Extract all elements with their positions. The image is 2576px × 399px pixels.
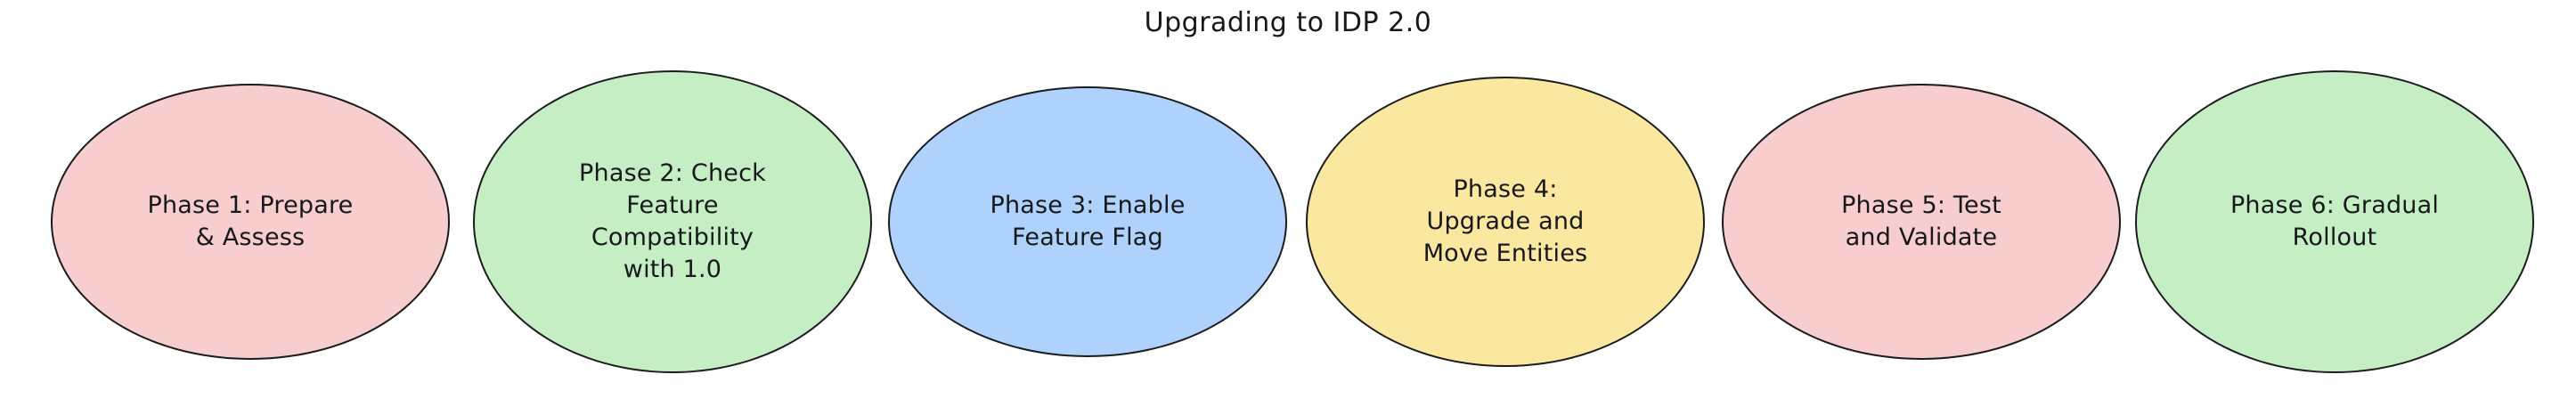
flowchart-node-phase-5[interactable]: Phase 5: Test and Validate bbox=[1722, 84, 2121, 360]
flowchart-node-label: Phase 6: Gradual Rollout bbox=[2218, 190, 2451, 254]
flowchart-node-phase-1[interactable]: Phase 1: Prepare & Assess bbox=[51, 84, 450, 360]
flowchart-node-label: Phase 2: Check Feature Compatibility wit… bbox=[567, 158, 779, 286]
flowchart-node-label: Phase 5: Test and Validate bbox=[1829, 190, 2014, 254]
flowchart-node-layer: Phase 1: Prepare & AssessPhase 2: Check … bbox=[0, 0, 2576, 399]
flowchart-node-phase-2[interactable]: Phase 2: Check Feature Compatibility wit… bbox=[473, 70, 872, 373]
flowchart-node-label: Phase 4: Upgrade and Move Entities bbox=[1411, 174, 1601, 270]
flowchart-node-label: Phase 1: Prepare & Assess bbox=[135, 190, 366, 254]
diagram-canvas: Upgrading to IDP 2.0 Phase 1: Prepare & … bbox=[0, 0, 2576, 399]
flowchart-node-label: Phase 3: Enable Feature Flag bbox=[977, 190, 1197, 254]
flowchart-node-phase-4[interactable]: Phase 4: Upgrade and Move Entities bbox=[1306, 77, 1705, 367]
flowchart-node-phase-6[interactable]: Phase 6: Gradual Rollout bbox=[2135, 70, 2534, 373]
flowchart-node-phase-3[interactable]: Phase 3: Enable Feature Flag bbox=[888, 86, 1287, 357]
